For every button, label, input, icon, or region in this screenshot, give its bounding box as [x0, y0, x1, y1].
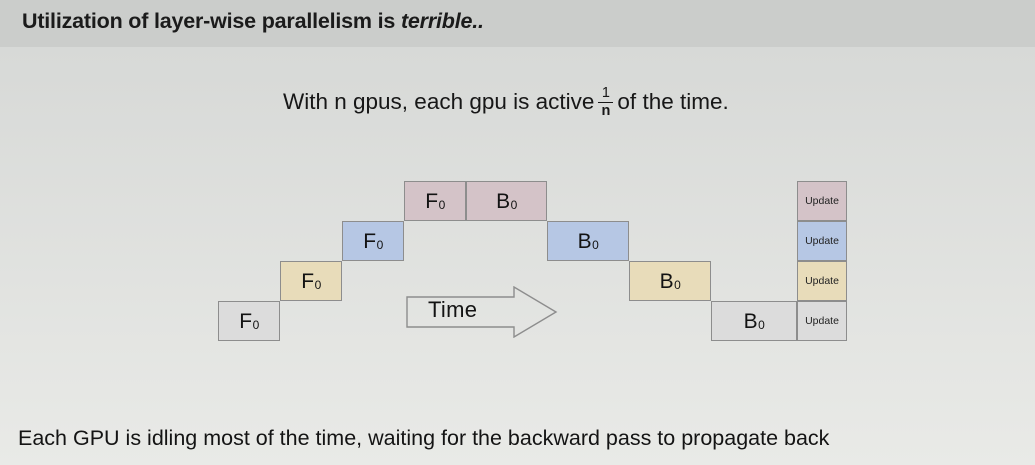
- forward-block-subscript: 0: [377, 239, 384, 251]
- time-axis-label: Time: [428, 297, 477, 323]
- forward-block-label: F: [425, 191, 438, 212]
- slide-caption: Each GPU is idling most of the time, wai…: [18, 426, 829, 451]
- backward-block-gpu-2: B0: [547, 221, 629, 261]
- forward-block-label: F: [363, 231, 376, 252]
- backward-block-gpu-4: B0: [711, 301, 797, 341]
- update-block-label: Update: [805, 315, 839, 327]
- forward-block-gpu-4: F0: [218, 301, 280, 341]
- update-block-label: Update: [805, 235, 839, 247]
- update-block-gpu-1: Update: [797, 181, 847, 221]
- update-block-label: Update: [805, 195, 839, 207]
- backward-block-subscript: 0: [674, 279, 681, 291]
- update-block-gpu-2: Update: [797, 221, 847, 261]
- forward-block-gpu-3: F0: [280, 261, 342, 301]
- forward-block-subscript: 0: [439, 199, 446, 211]
- backward-block-subscript: 0: [511, 199, 518, 211]
- update-block-label: Update: [805, 275, 839, 287]
- backward-block-label: B: [744, 311, 758, 332]
- forward-block-label: F: [239, 311, 252, 332]
- forward-block-subscript: 0: [315, 279, 322, 291]
- update-block-gpu-3: Update: [797, 261, 847, 301]
- backward-block-gpu-3: B0: [629, 261, 711, 301]
- update-block-gpu-4: Update: [797, 301, 847, 341]
- backward-block-subscript: 0: [758, 319, 765, 331]
- backward-block-label: B: [496, 191, 510, 212]
- forward-block-subscript: 0: [253, 319, 260, 331]
- pipeline-diagram: F0 B0 Update F0 B0 Update F0 B0 Update F…: [0, 0, 1035, 465]
- forward-block-gpu-2: F0: [342, 221, 404, 261]
- forward-block-gpu-1: F0: [404, 181, 466, 221]
- backward-block-gpu-1: B0: [466, 181, 547, 221]
- forward-block-label: F: [301, 271, 314, 292]
- backward-block-subscript: 0: [592, 239, 599, 251]
- backward-block-label: B: [660, 271, 674, 292]
- backward-block-label: B: [578, 231, 592, 252]
